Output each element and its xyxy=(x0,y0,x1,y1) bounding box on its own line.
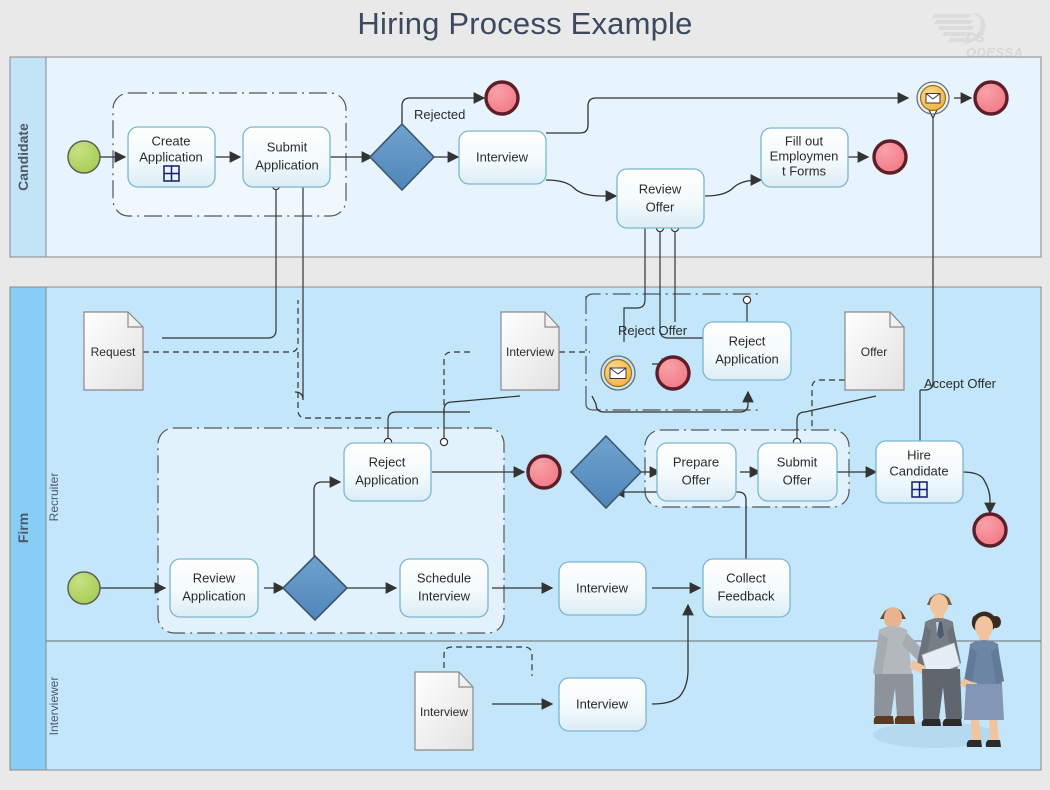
start-event-candidate[interactable] xyxy=(68,141,100,173)
data-object-label: Request xyxy=(91,345,136,359)
end-event-hired[interactable] xyxy=(974,514,1006,546)
lane-label-recruiter: Recruiter xyxy=(47,473,61,522)
task-label: Offer xyxy=(682,472,711,487)
task-hire-candidate[interactable]: Hire Candidate xyxy=(876,441,963,503)
task-label: Offer xyxy=(783,472,812,487)
task-label: Interview xyxy=(576,580,629,595)
diagram-canvas: Hiring Process Example CS ODESSA xyxy=(0,0,1050,790)
start-event-firm[interactable] xyxy=(68,572,100,604)
task-collect-feedback[interactable]: Collect Feedback xyxy=(703,559,790,617)
task-prepare-offer[interactable]: Prepare Offer xyxy=(657,443,736,501)
message-event-candidate[interactable] xyxy=(917,82,949,114)
task-label: Application xyxy=(182,588,246,603)
task-label: Reject xyxy=(729,333,766,348)
pool-label-firm: Firm xyxy=(15,513,31,543)
task-label: Application xyxy=(139,149,203,164)
data-object-request[interactable]: Request xyxy=(84,312,143,390)
lane-label-interviewer: Interviewer xyxy=(47,677,61,736)
task-submit-offer[interactable]: Submit Offer xyxy=(758,443,837,501)
task-label: Application xyxy=(255,157,319,172)
task-label: Create xyxy=(151,133,190,148)
task-review-application[interactable]: Review Application xyxy=(170,559,258,617)
task-label: Schedule xyxy=(417,570,471,585)
end-event-forms[interactable] xyxy=(874,141,906,173)
data-object-label: Interview xyxy=(420,705,468,719)
envelope-icon xyxy=(926,94,940,104)
task-label: Review xyxy=(639,181,682,196)
task-label: Hire xyxy=(907,447,931,462)
task-label: Review xyxy=(193,570,236,585)
task-review-offer[interactable]: Review Offer xyxy=(617,169,704,228)
message-event-reject-offer[interactable] xyxy=(601,356,635,390)
task-label: Application xyxy=(355,472,419,487)
pool-label-candidate: Candidate xyxy=(15,123,31,191)
task-label: Interview xyxy=(476,149,529,164)
task-interview-recruiter[interactable]: Interview xyxy=(559,562,646,615)
task-reject-application-top[interactable]: Reject Application xyxy=(703,322,791,380)
task-label: Prepare xyxy=(673,454,719,469)
data-object-offer[interactable]: Offer xyxy=(845,312,904,390)
task-label: Submit xyxy=(267,139,308,154)
flow-label-reject-offer: Reject Offer xyxy=(618,323,688,338)
task-submit-application[interactable]: Submit Application xyxy=(243,127,330,187)
task-label: Feedback xyxy=(717,588,775,603)
task-reject-application[interactable]: Reject Application xyxy=(344,443,431,501)
task-label: Collect xyxy=(726,570,766,585)
task-label: Application xyxy=(715,351,779,366)
task-label: Interview xyxy=(418,588,471,603)
data-object-label: Interview xyxy=(506,345,554,359)
task-label: Employmen xyxy=(770,148,839,163)
task-label: Submit xyxy=(777,454,818,469)
task-label: Offer xyxy=(646,199,675,214)
task-label: Interview xyxy=(576,696,629,711)
flow-label-accept-offer: Accept Offer xyxy=(924,376,997,391)
end-event-reject-application[interactable] xyxy=(528,456,560,488)
flow-label-rejected: Rejected xyxy=(414,107,465,122)
task-label: t Forms xyxy=(782,163,827,178)
task-label: Reject xyxy=(369,454,406,469)
task-schedule-interview[interactable]: Schedule Interview xyxy=(400,559,488,617)
end-event-rejected[interactable] xyxy=(486,82,518,114)
end-event-reject-offer[interactable] xyxy=(657,357,689,389)
task-create-application[interactable]: Create Application xyxy=(128,127,215,187)
bpmn-svg: Candidate Firm Recruiter Interviewer xyxy=(0,0,1050,790)
task-interview-interviewer[interactable]: Interview xyxy=(559,678,646,731)
task-fill-out-employment-forms[interactable]: Fill out Employmen t Forms xyxy=(761,128,848,187)
end-event-candidate-final[interactable] xyxy=(975,82,1007,114)
data-object-interview-interviewer[interactable]: Interview xyxy=(415,672,473,750)
task-label: Fill out xyxy=(785,133,824,148)
data-object-label: Offer xyxy=(861,345,887,359)
task-label: Candidate xyxy=(889,463,948,478)
data-object-interview-recruiter[interactable]: Interview xyxy=(501,312,559,390)
envelope-icon xyxy=(610,368,626,379)
task-interview-candidate[interactable]: Interview xyxy=(459,131,546,184)
